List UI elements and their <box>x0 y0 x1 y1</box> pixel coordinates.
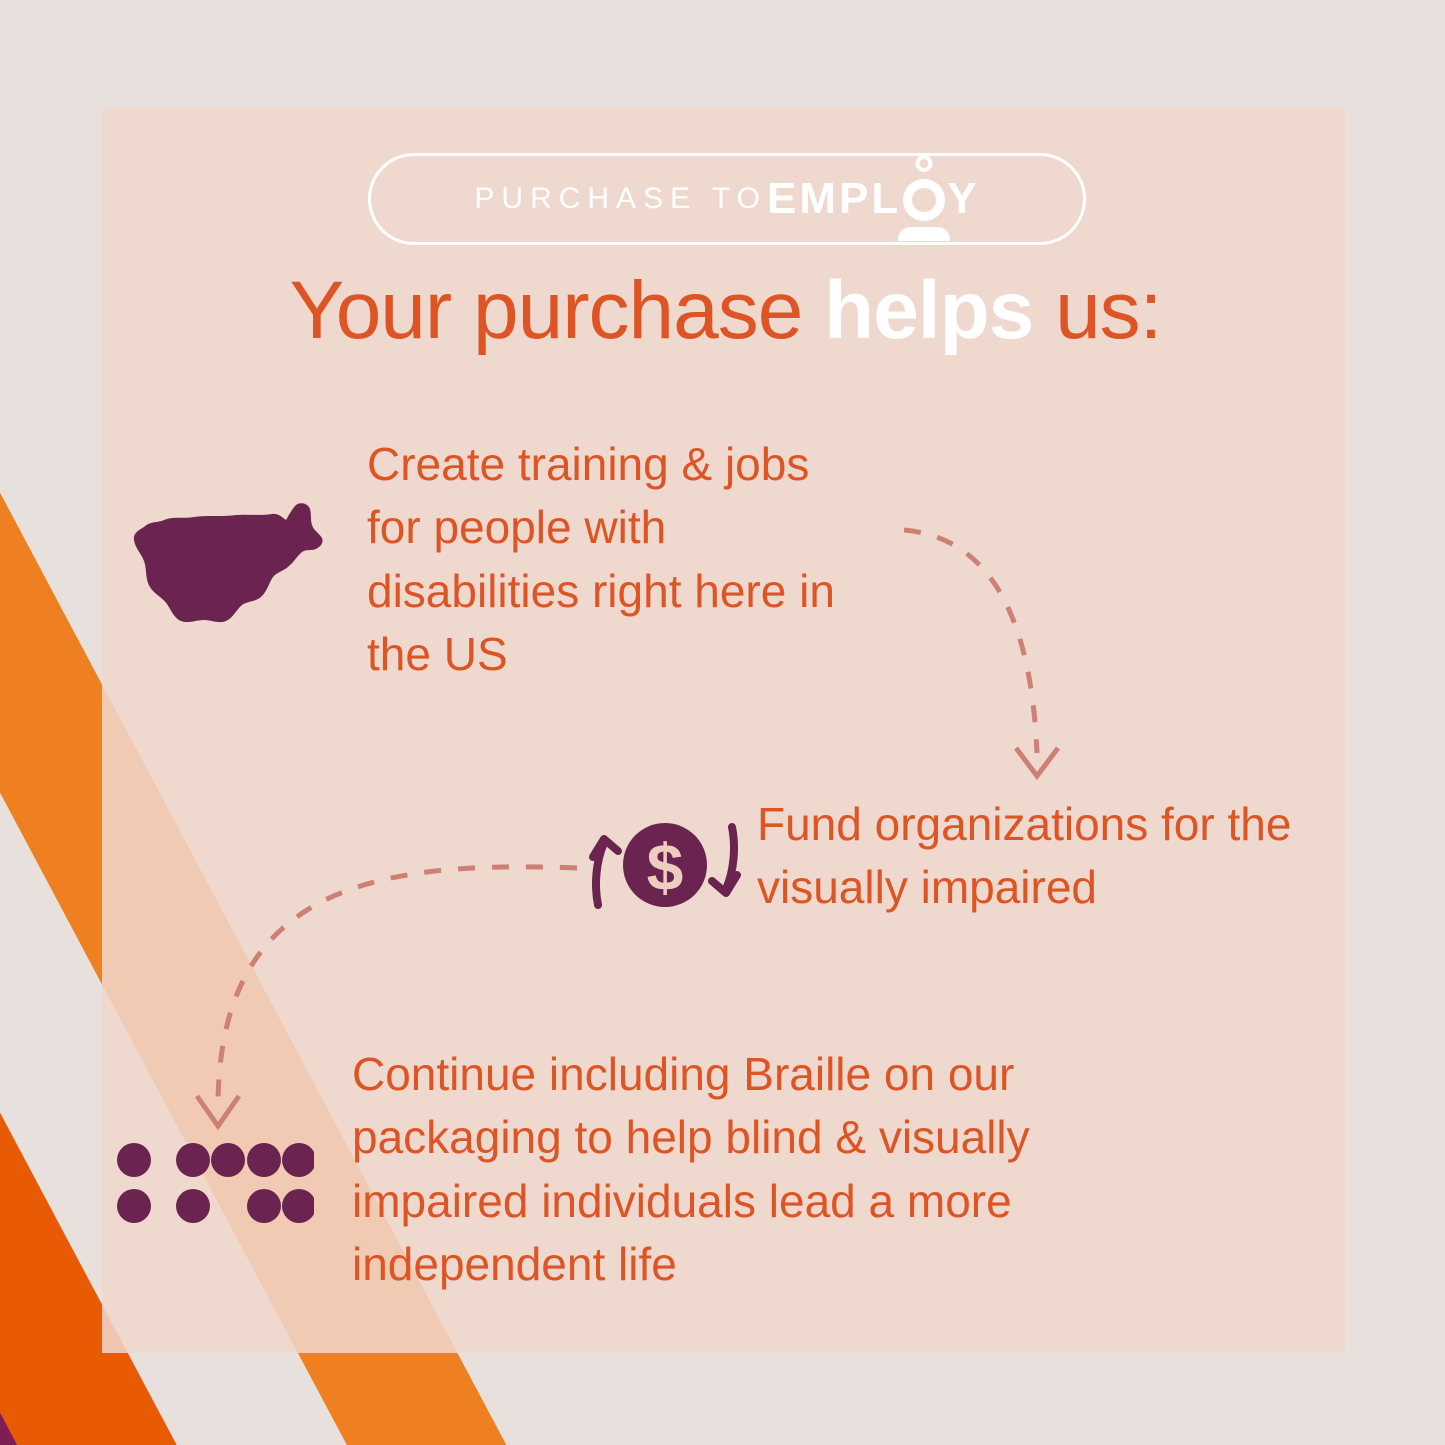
dollar-coin-icon: $ <box>580 813 750 918</box>
item-2-text: Fund organizations for the visually impa… <box>757 793 1317 920</box>
us-map-icon <box>126 500 336 630</box>
item-1-text: Create training & jobs for people with d… <box>367 433 867 687</box>
braille-dots-icon <box>114 1138 314 1228</box>
headline-emphasis: helps <box>824 265 1033 356</box>
purchase-to-employ-badge: PURCHASE TO EMPL Y <box>368 153 1086 245</box>
infographic-root: PURCHASE TO EMPL Y Your purchase helps u… <box>0 0 1445 1445</box>
badge-brand-text: EMPL Y <box>767 174 980 224</box>
person-body-ring-icon <box>903 179 945 221</box>
headline-part-1: Your purchase <box>290 265 825 356</box>
brand-empl-text: EMPL <box>767 174 901 224</box>
content-card: PURCHASE TO EMPL Y Your purchase helps u… <box>102 108 1345 1353</box>
person-base-icon <box>898 227 950 241</box>
brand-y-text: Y <box>947 174 979 224</box>
dashed-arrow-down-right-icon <box>882 508 1082 788</box>
item-3-text: Continue including Braille on our packag… <box>352 1043 1162 1297</box>
page-title: Your purchase helps us: <box>188 270 1263 352</box>
person-o-icon <box>901 177 947 221</box>
badge-prefix-text: PURCHASE TO <box>474 182 767 216</box>
person-head-icon <box>916 155 933 172</box>
headline-part-2: us: <box>1033 265 1161 356</box>
svg-text:$: $ <box>647 830 684 904</box>
